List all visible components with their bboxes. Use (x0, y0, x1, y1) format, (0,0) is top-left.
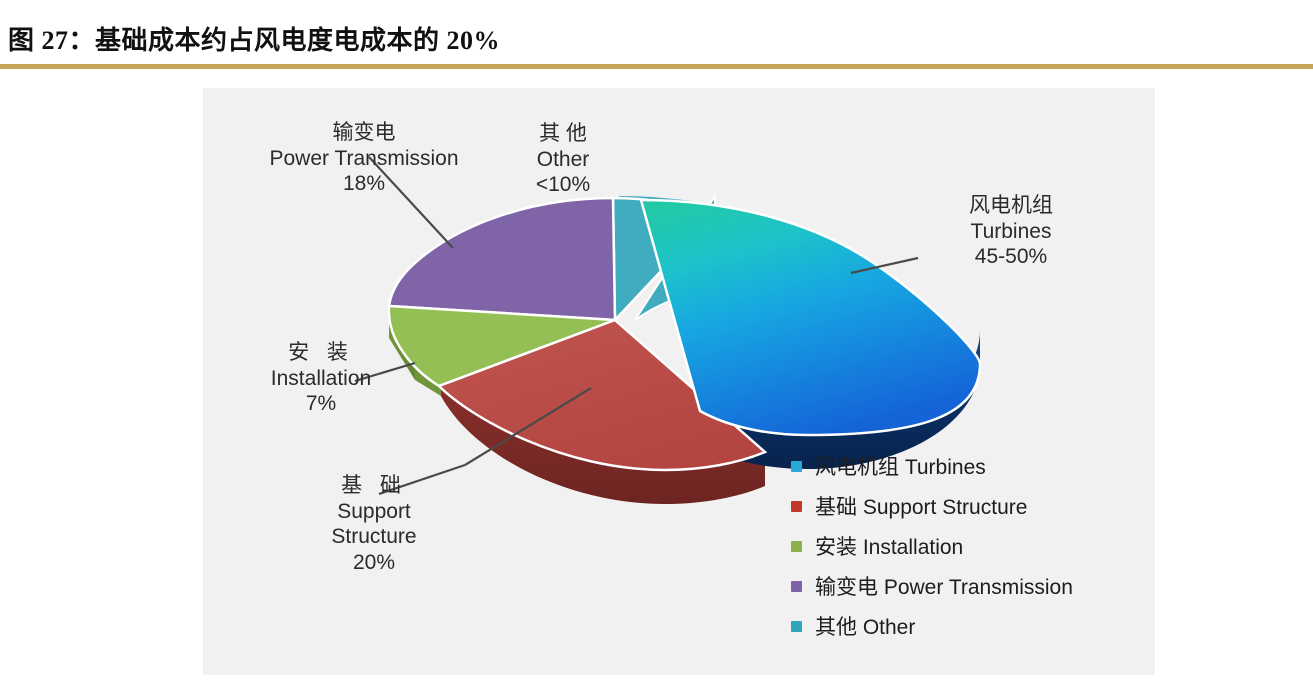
callout-installation-cn: 安 装 (241, 340, 401, 366)
callout-support-structure-en: Support (289, 499, 459, 525)
legend-item-power-transmission[interactable]: 输变电 Power Transmission (791, 566, 1073, 606)
callout-power-transmission-value: 18% (249, 171, 479, 197)
callout-installation: 安 装 Installation 7% (241, 340, 401, 417)
page-title: 图 27：基础成本约占风电度电成本的 20% (8, 20, 500, 57)
legend-swatch-turbines (791, 461, 802, 472)
legend-label-installation: 安装 Installation (815, 531, 963, 561)
legend-swatch-installation (791, 541, 802, 552)
legend-item-support-structure[interactable]: 基础 Support Structure (791, 486, 1073, 526)
legend-item-other[interactable]: 其他 Other (791, 606, 1073, 646)
callout-other: 其 他 Other <10% (503, 121, 623, 198)
callout-installation-en: Installation (241, 366, 401, 392)
callout-power-transmission: 输变电 Power Transmission 18% (249, 120, 479, 197)
callout-support-structure-value: 20% (289, 550, 459, 576)
callout-other-value: <10% (503, 172, 623, 198)
figure-root: 图 27：基础成本约占风电度电成本的 20% (0, 0, 1313, 684)
legend-label-other: 其他 Other (815, 611, 915, 641)
callout-turbines-cn: 风电机组 (921, 193, 1101, 219)
title-divider (0, 64, 1313, 69)
callout-support-structure-cn: 基 础 (289, 473, 459, 499)
legend-label-power-transmission: 输变电 Power Transmission (815, 571, 1073, 601)
callout-power-transmission-en: Power Transmission (249, 146, 479, 172)
callout-installation-value: 7% (241, 391, 401, 417)
callout-support-structure: 基 础 Support Structure 20% (289, 473, 459, 575)
legend-swatch-support-structure (791, 501, 802, 512)
chart-legend: 风电机组 Turbines 基础 Support Structure 安装 In… (791, 446, 1073, 646)
callout-other-en: Other (503, 147, 623, 173)
callout-turbines-value: 45-50% (921, 244, 1101, 270)
chart-panel: 输变电 Power Transmission 18% 其 他 Other <10… (203, 88, 1155, 675)
callout-turbines-en: Turbines (921, 219, 1101, 245)
legend-label-turbines: 风电机组 Turbines (815, 451, 986, 481)
callout-turbines: 风电机组 Turbines 45-50% (921, 193, 1101, 270)
legend-item-installation[interactable]: 安装 Installation (791, 526, 1073, 566)
legend-swatch-other (791, 621, 802, 632)
callout-support-structure-en2: Structure (289, 524, 459, 550)
legend-item-turbines[interactable]: 风电机组 Turbines (791, 446, 1073, 486)
callout-other-cn: 其 他 (503, 121, 623, 147)
legend-label-support-structure: 基础 Support Structure (815, 491, 1027, 521)
callout-power-transmission-cn: 输变电 (249, 120, 479, 146)
legend-swatch-power-transmission (791, 581, 802, 592)
